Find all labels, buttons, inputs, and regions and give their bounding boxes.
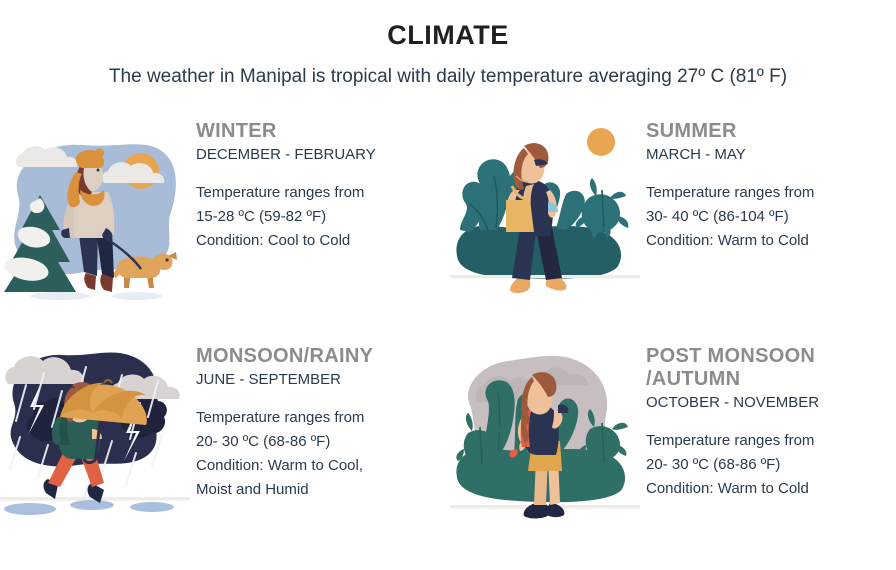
season-line: Moist and Humid xyxy=(196,478,446,502)
season-description: Temperature ranges from 15-28 ºC (59-82 … xyxy=(196,181,446,253)
season-text-winter: WINTER DECEMBER - FEBRUARY Temperature r… xyxy=(196,120,446,253)
season-line: Temperature ranges from xyxy=(196,406,446,430)
season-line: 15-28 ºC (59-82 ºF) xyxy=(196,205,446,229)
season-text-post-monsoon: POST MONSOON /AUTUMN OCTOBER - NOVEMBER … xyxy=(646,345,896,501)
climate-infographic: CLIMATE The weather in Manipal is tropic… xyxy=(0,0,896,570)
season-months: MARCH - MAY xyxy=(646,145,896,165)
page-subtitle: The weather in Manipal is tropical with … xyxy=(0,66,896,88)
summer-woman-walking-illustration xyxy=(450,120,640,320)
post-monsoon-woman-phone-illustration xyxy=(450,345,640,545)
season-line: Condition: Warm to Cold xyxy=(646,229,896,253)
winter-dog-walk-illustration xyxy=(0,120,190,320)
monsoon-umbrella-rain-illustration xyxy=(0,345,190,545)
season-line: Temperature ranges from xyxy=(196,181,446,205)
season-months: DECEMBER - FEBRUARY xyxy=(196,145,446,165)
season-line: 30- 40 ºC (86-104 ºF) xyxy=(646,205,896,229)
season-months: OCTOBER - NOVEMBER xyxy=(646,393,896,413)
season-line: Condition: Cool to Cold xyxy=(196,229,446,253)
page-title: CLIMATE xyxy=(0,20,896,51)
season-heading: SUMMER xyxy=(646,120,896,143)
season-heading: WINTER xyxy=(196,120,446,143)
season-line: Temperature ranges from xyxy=(646,181,896,205)
season-line: Condition: Warm to Cold xyxy=(646,477,896,501)
season-description: Temperature ranges from 20- 30 ºC (68-86… xyxy=(196,406,446,502)
season-description: Temperature ranges from 20- 30 ºC (68-86… xyxy=(646,429,896,501)
season-heading: POST MONSOON /AUTUMN xyxy=(646,345,896,391)
season-text-summer: SUMMER MARCH - MAY Temperature ranges fr… xyxy=(646,120,896,253)
season-description: Temperature ranges from 30- 40 ºC (86-10… xyxy=(646,181,896,253)
season-text-monsoon: MONSOON/RAINY JUNE - SEPTEMBER Temperatu… xyxy=(196,345,446,502)
season-months: JUNE - SEPTEMBER xyxy=(196,370,446,390)
season-line: Temperature ranges from xyxy=(646,429,896,453)
season-line: 20- 30 ºC (68-86 ºF) xyxy=(196,430,446,454)
season-line: 20- 30 ºC (68-86 ºF) xyxy=(646,453,896,477)
season-heading: MONSOON/RAINY xyxy=(196,345,446,368)
season-line: Condition: Warm to Cool, xyxy=(196,454,446,478)
